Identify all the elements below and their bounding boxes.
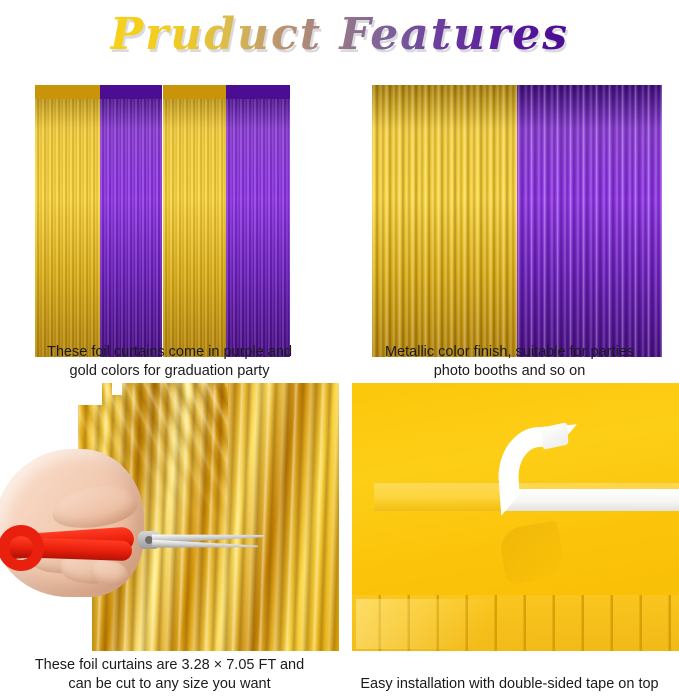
- foil-sheen: [35, 85, 100, 357]
- feature-caption-metallic-finish: Metallic color finish, suitable for part…: [340, 343, 679, 381]
- foil-gap: [112, 383, 122, 395]
- feature-cell-double-sided-tape: Easy installation with double-sided tape…: [340, 383, 679, 696]
- caption-line: Metallic color finish, suitable for part…: [340, 343, 679, 362]
- curtain-panel-purple-1: [100, 85, 162, 357]
- caption-line: These foil curtains come in purple and: [0, 343, 339, 362]
- photo-scissors-cutting-curtain: [0, 383, 339, 651]
- product-features-page: Pruduct Features: [0, 0, 679, 696]
- caption-line: These foil curtains are 3.28 × 7.05 FT a…: [0, 656, 339, 675]
- feature-caption-double-sided-tape: Easy installation with double-sided tape…: [340, 675, 679, 694]
- feature-caption-size-cuttable: These foil curtains are 3.28 × 7.05 FT a…: [0, 656, 339, 694]
- curtain-top-band: [35, 85, 100, 99]
- foil-sheen: [163, 85, 227, 357]
- curtain-top-band: [226, 85, 290, 99]
- curtain-panel-gold-2: [163, 85, 227, 357]
- curtain-top-band: [100, 85, 162, 99]
- photo-double-sided-tape: [352, 383, 679, 651]
- caption-line: can be cut to any size you want: [0, 675, 339, 694]
- closeup-purple-half: [517, 85, 662, 357]
- feature-cell-colors: These foil curtains come in purple and g…: [0, 70, 339, 383]
- scissors-pivot-screw: [145, 536, 153, 544]
- foil-sheen: [372, 85, 517, 357]
- features-grid: These foil curtains come in purple and g…: [0, 70, 679, 696]
- curtain-panel-gold-1: [35, 85, 100, 357]
- feature-cell-metallic-finish: Metallic color finish, suitable for part…: [340, 70, 679, 383]
- caption-line: Easy installation with double-sided tape…: [340, 675, 679, 694]
- page-title-container: Pruduct Features: [0, 0, 679, 70]
- foil-sheen: [226, 85, 290, 357]
- closeup-gold-half: [372, 85, 517, 357]
- feature-cell-size-cuttable: These foil curtains are 3.28 × 7.05 FT a…: [0, 383, 339, 696]
- page-title: Pruduct Features: [110, 13, 569, 57]
- curtain-top-band: [163, 85, 227, 99]
- foil-gap: [78, 383, 102, 405]
- caption-line: photo booths and so on: [340, 362, 679, 381]
- photo-four-panel-curtain: [35, 85, 290, 357]
- foil-sheen: [517, 85, 662, 357]
- feature-caption-colors: These foil curtains come in purple and g…: [0, 343, 339, 381]
- foil-sheen: [100, 85, 162, 357]
- curtain-panel-purple-2: [226, 85, 290, 357]
- foil-fringe-gloss: [356, 599, 536, 649]
- caption-line: gold colors for graduation party: [0, 362, 339, 381]
- photo-metallic-closeup: [372, 85, 662, 357]
